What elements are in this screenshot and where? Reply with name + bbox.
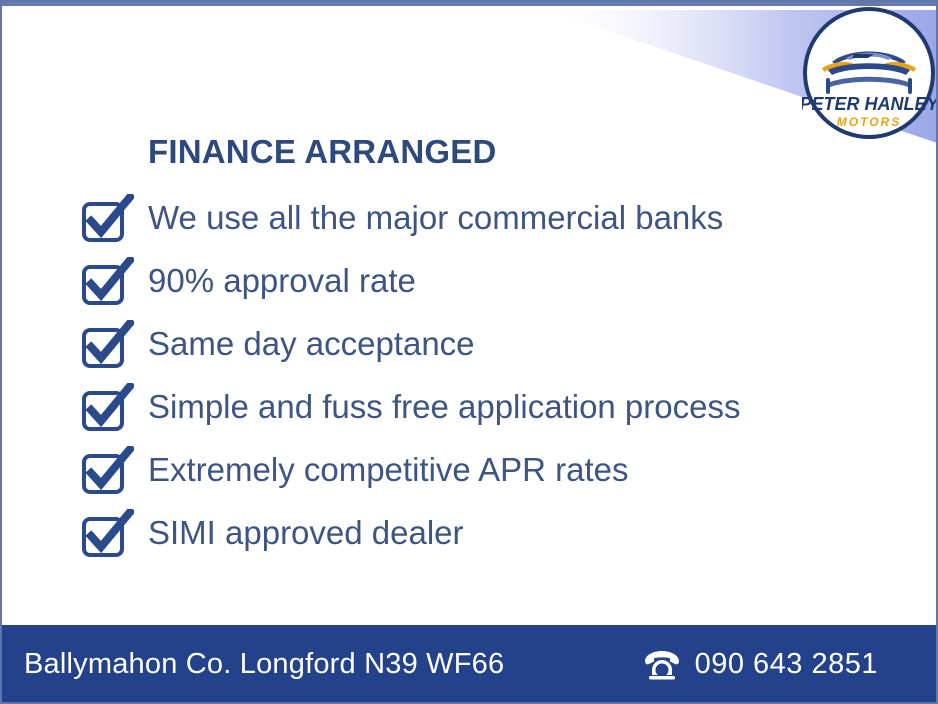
dealer-logo: PETER HANLEY MOTORS [802,6,936,140]
phone-number: 090 643 2851 [695,648,878,681]
finance-arranged-poster: PETER HANLEY MOTORS FINANCE ARRANGED We … [0,0,938,704]
list-item: Extremely competitive APR rates [80,439,880,502]
feature-label: Extremely competitive APR rates [148,452,629,488]
checkbox-checked-icon [80,320,134,370]
poster-content: FINANCE ARRANGED We use all the major co… [80,133,880,565]
telephone-icon [643,648,681,682]
feature-label: 90% approval rate [148,263,416,299]
logo-brand-line1: PETER HANLEY [802,94,936,114]
feature-label: SIMI approved dealer [148,515,464,551]
list-item: SIMI approved dealer [80,502,880,565]
feature-list: We use all the major commercial banks 90… [80,187,880,565]
checkbox-checked-icon [80,257,134,307]
checkbox-checked-icon [80,446,134,496]
list-item: Same day acceptance [80,313,880,376]
checkbox-checked-icon [80,383,134,433]
feature-label: Simple and fuss free application process [148,389,741,425]
feature-label: We use all the major commercial banks [148,200,723,236]
list-item: Simple and fuss free application process [80,376,880,439]
phone-contact[interactable]: 090 643 2851 [643,648,908,682]
page-title: FINANCE ARRANGED [148,133,880,171]
checkbox-checked-icon [80,509,134,559]
dealer-address: Ballymahon Co. Longford N39 WF66 [24,648,504,681]
footer-contact-bar: Ballymahon Co. Longford N39 WF66 090 643… [0,625,938,704]
list-item: 90% approval rate [80,250,880,313]
list-item: We use all the major commercial banks [80,187,880,250]
logo-brand-line2: MOTORS [837,115,901,129]
checkbox-checked-icon [80,194,134,244]
feature-label: Same day acceptance [148,326,475,362]
